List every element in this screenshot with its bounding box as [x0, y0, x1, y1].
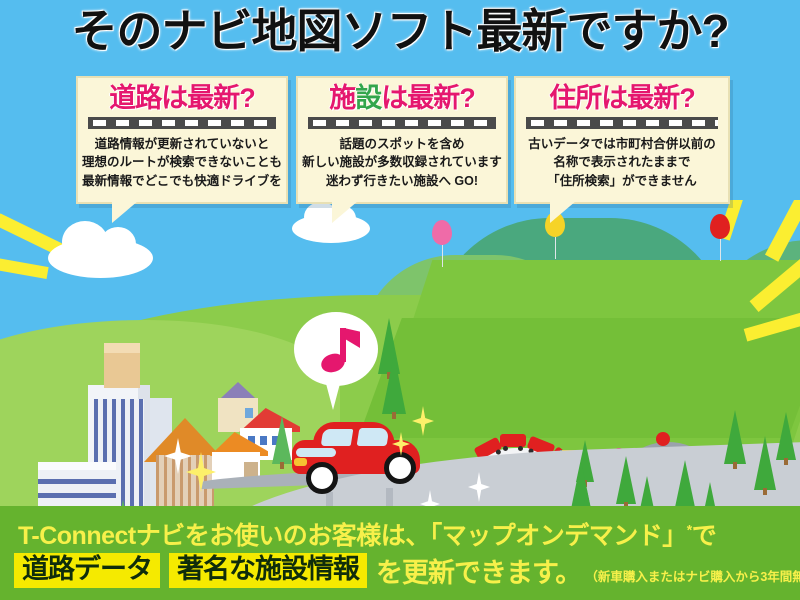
- bubble-tail: [550, 201, 576, 223]
- info-panel-roads: 道路は最新? 道路情報が更新されていないと 理想のルートが検索できないことも 最…: [76, 76, 288, 204]
- banner-update-text: を更新できます。: [376, 551, 581, 590]
- bottom-banner: T-Connectナビをお使いのお客様は、「マップオンデマンド」*で 道路データ…: [0, 506, 800, 600]
- tree-icon: [616, 456, 636, 504]
- info-panel-addresses: 住所は最新? 古いデータでは市町村合併以前の 名称で表示されたままで 「住所検索…: [514, 76, 730, 204]
- panel-line: 最新情報でどこでも快適ドライブを: [78, 172, 286, 191]
- coaster-car-icon: [500, 434, 526, 447]
- bubble-tail: [112, 201, 138, 223]
- banner-line-1-tail: で: [692, 522, 717, 550]
- panel-body: 道路情報が更新されていないと 理想のルートが検索できないことも 最新情報でどこで…: [78, 135, 286, 191]
- apartment-block-icon: [38, 470, 116, 510]
- cloud-icon: [48, 238, 153, 278]
- tree-icon: [636, 476, 658, 510]
- panel-line: 道路情報が更新されていないと: [78, 135, 286, 154]
- road-divider-icon: [88, 117, 276, 129]
- panel-title-rest: は最新?: [601, 83, 695, 113]
- panel-title-rest: は最新?: [381, 83, 475, 113]
- road-divider-icon: [308, 117, 496, 129]
- tree-icon: [724, 410, 746, 464]
- tree-icon: [776, 412, 796, 460]
- banner-line-1-text: T-Connectナビをお使いのお客様は、「マップオンデマンド」: [18, 522, 687, 550]
- tree-icon: [674, 460, 696, 510]
- panel-title: 道路は最新?: [78, 84, 286, 114]
- tree-icon: [382, 354, 406, 414]
- window-icon: [260, 436, 267, 445]
- page-title: そのナビ地図ソフト最新ですか?: [0, 6, 800, 57]
- panel-title: 施設は最新?: [298, 84, 506, 114]
- music-note-icon: [321, 328, 355, 372]
- road-divider-icon: [526, 117, 718, 129]
- balloon-icon: [432, 220, 452, 245]
- info-panel-facilities: 施設は最新? 話題のスポットを含め 新しい施設が多数収録されています 迷わず行き…: [296, 76, 508, 204]
- panel-line: 理想のルートが検索できないことも: [78, 153, 286, 172]
- banner-line-1: T-Connectナビをお使いのお客様は、「マップオンデマンド」*で: [18, 516, 716, 552]
- banner-line-2: 道路データ 著名な施設情報 を更新できます。 （新車購入またはナビ購入から3年間…: [14, 551, 800, 590]
- panel-title-keyword: 施: [329, 83, 355, 113]
- balloon-icon: [710, 214, 730, 239]
- panel-line: 古いデータでは市町村合併以前の: [516, 135, 728, 154]
- chip-road-data: 道路データ: [14, 553, 160, 588]
- ferris-gondola-icon: [656, 432, 670, 446]
- bubble-tail: [332, 201, 358, 223]
- panel-line: 話題のスポットを含め: [298, 135, 506, 154]
- window-icon: [245, 408, 253, 418]
- panel-line: 名称で表示されたままで: [516, 153, 728, 172]
- panel-body: 話題のスポットを含め 新しい施設が多数収録されています 迷わず行きたい施設へ G…: [298, 135, 506, 191]
- tree-icon: [754, 436, 776, 490]
- panel-line: 新しい施設が多数収録されています: [298, 153, 506, 172]
- panel-title-keyword: 道路: [109, 83, 161, 113]
- panel-title: 住所は最新?: [516, 84, 728, 114]
- red-car-icon: [292, 422, 424, 484]
- illustration-scene: [0, 200, 800, 510]
- panel-title-rest: は最新?: [161, 83, 255, 113]
- rooftop-box-icon: [104, 352, 140, 388]
- panel-title-keyword: 住所: [549, 83, 601, 113]
- panel-line: 「住所検索」ができません: [516, 172, 728, 191]
- chip-facility-info: 著名な施設情報: [169, 553, 367, 588]
- panel-body: 古いデータでは市町村合併以前の 名称で表示されたままで 「住所検索」ができません: [516, 135, 728, 191]
- advertisement-poster: そのナビ地図ソフト最新ですか? 道路は最新? 道路情報が更新されていないと 理想…: [0, 0, 800, 600]
- panel-title-keyword-green: 設: [355, 83, 381, 113]
- panel-line: 迷わず行きたい施設へ GO!: [298, 172, 506, 191]
- cloud-icon: [292, 214, 370, 243]
- tree-icon: [272, 416, 292, 464]
- banner-footnote: （新車購入またはナビ購入から3年間無料）: [585, 566, 800, 590]
